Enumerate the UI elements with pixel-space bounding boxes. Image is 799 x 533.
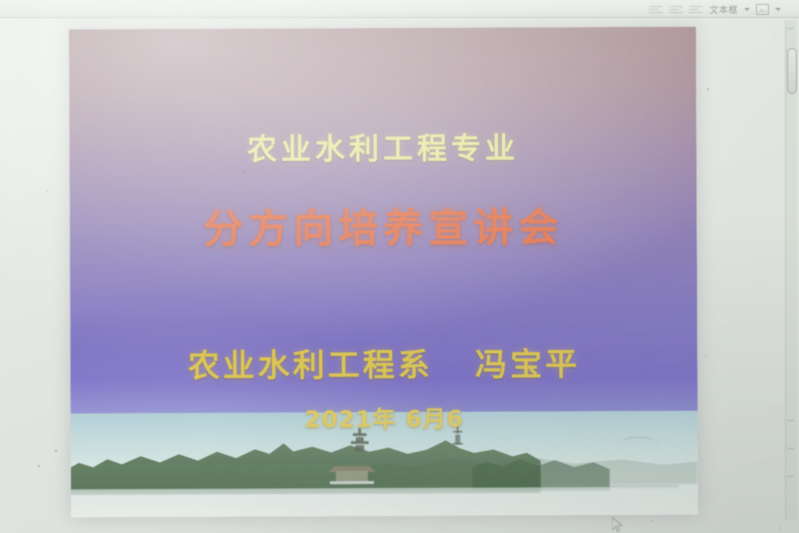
photo-speck: [46, 190, 48, 192]
photo-speck: [651, 520, 653, 522]
photo-speck: [243, 170, 246, 173]
vertical-scrollbar[interactable]: [785, 20, 797, 520]
mouse-pointer-icon: [612, 517, 624, 533]
toolbar-cluster: 文本框: [649, 0, 781, 18]
slide-title-line-2: 分方向培养宣讲会: [70, 195, 697, 256]
align-lines-icon[interactable]: [649, 6, 663, 13]
scrollbar-tick: [787, 448, 794, 449]
application-toolbar-strip: 文本框: [0, 0, 799, 18]
slide-title-line-1: 农业水利工程专业: [69, 123, 696, 170]
chevron-down-icon[interactable]: [775, 8, 781, 11]
picture-icon[interactable]: [756, 4, 769, 15]
chevron-down-icon[interactable]: [744, 8, 750, 11]
photo-speck: [707, 88, 709, 90]
photo-speck: [55, 450, 57, 452]
photo-pavilion: [328, 466, 376, 488]
scrollbar-tick: [787, 420, 794, 421]
scrollbar-thumb[interactable]: [787, 48, 797, 94]
slide-date: 2021年 6月6: [71, 399, 698, 436]
align-lines-icon[interactable]: [689, 6, 703, 13]
scrollbar-tick: [787, 28, 794, 29]
photo-speck: [779, 527, 781, 529]
photo-speck: [407, 70, 409, 72]
photo-speck: [705, 355, 707, 357]
textbox-button-label[interactable]: 文本框: [709, 3, 738, 16]
photo-water: [71, 487, 698, 518]
slide-subtitle: 农业水利工程系 冯宝平: [70, 339, 697, 388]
align-lines-icon[interactable]: [669, 6, 683, 13]
projection-photo: 文本框 农业水利工程专业: [0, 0, 799, 533]
projected-slide[interactable]: 农业水利工程专业 分方向培养宣讲会 农业水利工程系 冯宝平 2021年 6月6: [69, 27, 698, 518]
photo-speck: [38, 465, 40, 467]
scrollbar-tick: [787, 476, 794, 477]
